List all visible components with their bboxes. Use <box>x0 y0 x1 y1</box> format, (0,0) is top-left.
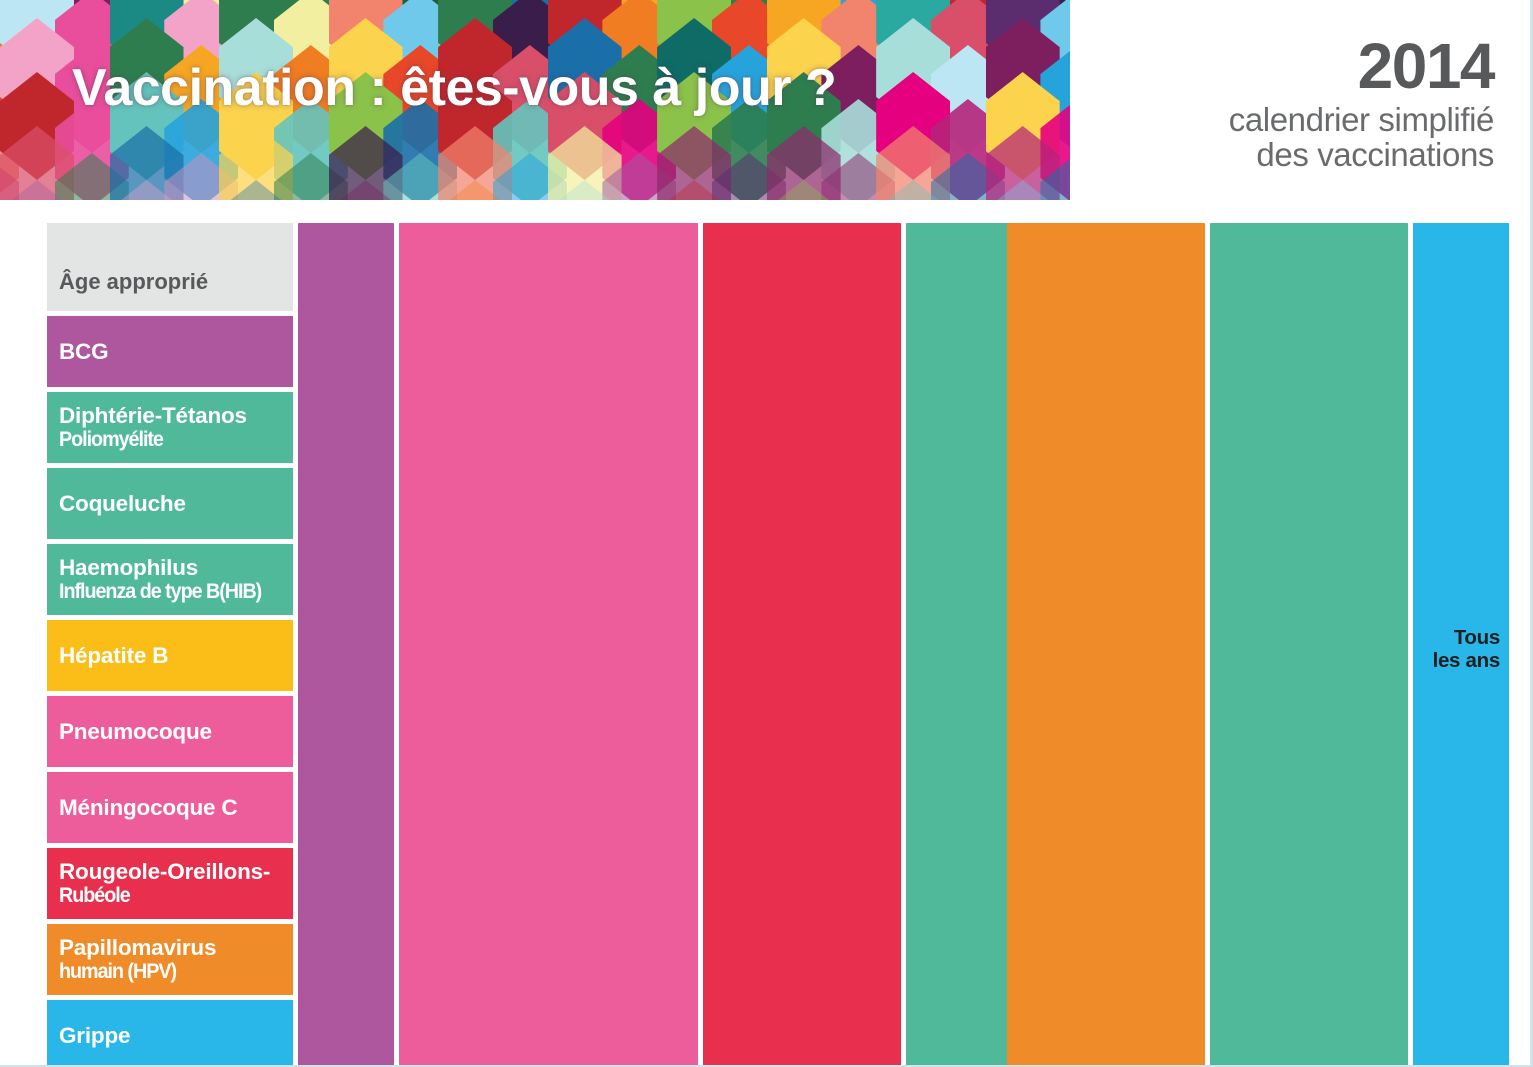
poster-root: Vaccination : êtes-vous à jour ? 2014 ca… <box>0 0 1533 1067</box>
row-label-swatch: Hépatite B <box>47 620 293 691</box>
row-label-text: Papillomavirushumain (HPV) <box>59 935 216 984</box>
row-label-swatch: Grippe <box>47 1000 293 1067</box>
row-label-swatch: Diphtérie-TétanosPoliomyélite <box>47 392 293 463</box>
row-label-cell[interactable]: Méningocoque C <box>47 772 293 843</box>
row-label-cell[interactable]: Diphtérie-TétanosPoliomyélite <box>47 392 293 463</box>
row-label-cell[interactable]: Papillomavirushumain (HPV) <box>47 924 293 995</box>
row-label-cell[interactable]: Grippe <box>47 1000 293 1067</box>
row-label-main: BCG <box>59 339 108 364</box>
header-banner: Vaccination : êtes-vous à jour ? <box>0 0 1070 200</box>
row-label-text: BCG <box>59 339 108 364</box>
row-label-text: Grippe <box>59 1023 130 1048</box>
row-label-main: Coqueluche <box>59 491 186 516</box>
row-label-text: Rougeole-Oreillons-Rubéole <box>59 859 270 908</box>
row-label-text: Coqueluche <box>59 491 186 516</box>
schedule-marker[interactable] <box>703 223 901 1067</box>
row-label-cell[interactable]: BCG <box>47 316 293 387</box>
table-corner-cell: Âge approprié <box>47 223 293 311</box>
schedule-marker[interactable] <box>1007 223 1205 1067</box>
row-label-main: Diphtérie-Tétanos <box>59 403 247 428</box>
row-label-swatch: Pneumocoque <box>47 696 293 767</box>
row-label-swatch: Coqueluche <box>47 468 293 539</box>
row-label-swatch: HaemophilusInfluenza de type B(HIB) <box>47 544 293 615</box>
schedule-marker-text-line: les ans <box>1433 650 1500 673</box>
row-label-cell[interactable]: HaemophilusInfluenza de type B(HIB) <box>47 544 293 615</box>
row-label-main: Pneumocoque <box>59 719 212 744</box>
banner-title: Vaccination : êtes-vous à jour ? <box>72 58 836 118</box>
row-label-sub: Poliomyélite <box>59 428 236 452</box>
row-label-main: Méningocoque C <box>59 795 237 820</box>
row-label-main: Grippe <box>59 1023 130 1048</box>
row-label-sub: Influenza de type B(HIB) <box>59 580 261 604</box>
row-label-swatch: Papillomavirushumain (HPV) <box>47 924 293 995</box>
row-label-swatch: Rougeole-Oreillons-Rubéole <box>47 848 293 919</box>
row-label-main: Rougeole-Oreillons- <box>59 859 270 884</box>
row-label-cell[interactable]: Pneumocoque <box>47 696 293 767</box>
row-label-cell[interactable]: Rougeole-Oreillons-Rubéole <box>47 848 293 919</box>
schedule-marker-text-line: Tous <box>1454 627 1500 650</box>
schedule-marker-labelled[interactable]: Tousles ans <box>1413 223 1509 1067</box>
schedule-marker[interactable] <box>1210 223 1306 1067</box>
schedule-marker[interactable] <box>399 223 698 1067</box>
vaccination-schedule-table: Âge approprié Naissance2 mois4 mois11 mo… <box>47 223 1509 1067</box>
row-label-cell[interactable]: Coqueluche <box>47 468 293 539</box>
row-label-main: Hépatite B <box>59 643 168 668</box>
row-label-text: Méningocoque C <box>59 795 237 820</box>
row-label-main: Papillomavirus <box>59 935 216 960</box>
schedule-marker[interactable] <box>298 223 394 1067</box>
subtitle-line-1: calendrier simplifié <box>1229 102 1494 138</box>
row-label-swatch: Méningocoque C <box>47 772 293 843</box>
row-label-text: Hépatite B <box>59 643 168 668</box>
row-label-cell[interactable]: Hépatite B <box>47 620 293 691</box>
title-block: 2014 calendrier simplifié des vaccinatio… <box>1229 36 1494 173</box>
row-label-sub: Rubéole <box>59 884 258 908</box>
row-label-text: Pneumocoque <box>59 719 212 744</box>
row-label-main: Haemophilus <box>59 555 198 580</box>
schedule-marker-text: Tousles ans <box>1413 223 1509 1067</box>
subtitle-line-2: des vaccinations <box>1229 137 1494 173</box>
year-label: 2014 <box>1229 36 1494 97</box>
age-approprie-label: Âge approprié <box>59 269 208 295</box>
row-label-sub: humain (HPV) <box>59 960 207 984</box>
row-label-text: HaemophilusInfluenza de type B(HIB) <box>59 555 274 604</box>
row-label-swatch: BCG <box>47 316 293 387</box>
row-label-text: Diphtérie-TétanosPoliomyélite <box>59 403 247 452</box>
